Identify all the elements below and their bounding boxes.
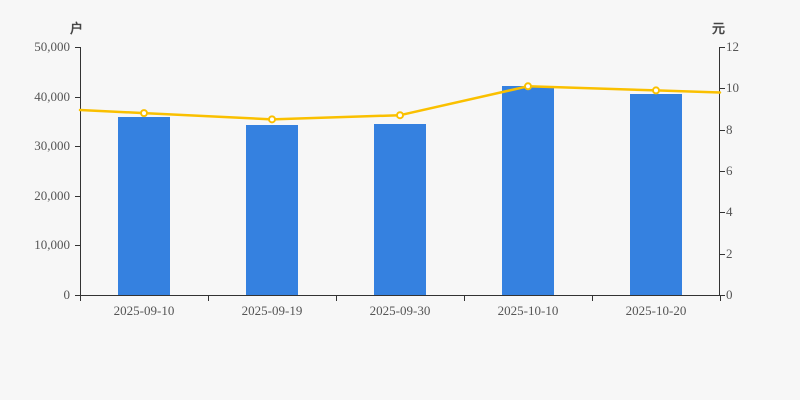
line-marker[interactable] [141,110,147,116]
line-marker[interactable] [397,112,403,118]
line-series [0,0,800,400]
line-marker[interactable] [653,87,659,93]
line-marker[interactable] [525,83,531,89]
line-marker[interactable] [269,116,275,122]
chart-container: 户 元 010,00020,00030,00040,00050,000 0246… [0,0,800,400]
